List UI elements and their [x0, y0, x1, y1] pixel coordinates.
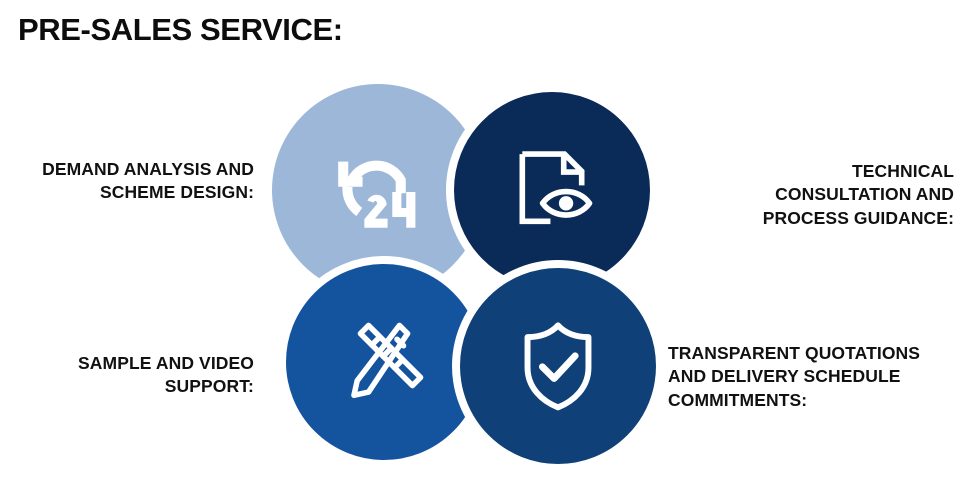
circle-transparent-quotations[interactable]: [452, 260, 664, 472]
label-transparent-quotations: TRANSPARENT QUOTATIONS AND DELIVERY SCHE…: [668, 342, 960, 412]
pencil-ruler-design-icon: [332, 310, 436, 414]
label-sample-video: SAMPLE AND VIDEO SUPPORT:: [0, 352, 254, 399]
label-demand-analysis: DEMAND ANALYSIS AND SCHEME DESIGN:: [0, 158, 254, 205]
shield-check-icon: [508, 316, 608, 416]
24-hour-rotation-icon: [326, 138, 430, 242]
document-review-eye-icon: [502, 140, 602, 240]
page-title: PRE-SALES SERVICE:: [18, 12, 343, 48]
label-technical-consultation: TECHNICAL CONSULTATION AND PROCESS GUIDA…: [728, 160, 954, 230]
circle-cluster-diagram: [272, 84, 658, 472]
